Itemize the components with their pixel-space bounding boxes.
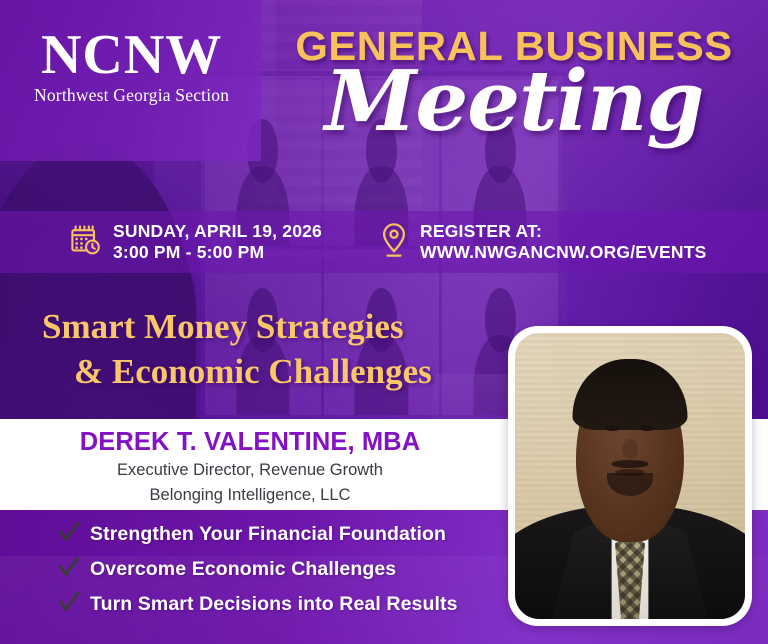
headshot-brow-left xyxy=(601,415,622,420)
speaker-company: Belonging Intelligence, LLC xyxy=(0,485,500,507)
list-item-label: Turn Smart Decisions into Real Results xyxy=(90,593,458,616)
topic-line-2: & Economic Challenges xyxy=(42,350,472,395)
location-pin-icon xyxy=(379,222,409,263)
register-label: REGISTER AT: xyxy=(420,221,707,242)
speaker-info: DEREK T. VALENTINE, MBA Executive Direct… xyxy=(0,419,500,510)
check-icon xyxy=(58,555,80,584)
speaker-name: DEREK T. VALENTINE, MBA xyxy=(0,428,500,457)
headline: GENERAL BUSINESS Meeting xyxy=(272,26,756,139)
logo-section-name: Northwest Georgia Section xyxy=(34,86,229,105)
list-item: Overcome Economic Challenges xyxy=(58,555,458,584)
list-item: Strengthen Your Financial Foundation xyxy=(58,520,458,549)
topic-line-1: Smart Money Strategies xyxy=(42,305,472,350)
speaker-role: Executive Director, Revenue Growth xyxy=(0,460,500,482)
list-item-label: Overcome Economic Challenges xyxy=(90,558,396,581)
logo-acronym: NCNW xyxy=(34,28,229,83)
calendar-clock-icon xyxy=(68,223,102,262)
register-url[interactable]: WWW.NWGANCNW.ORG/EVENTS xyxy=(420,242,707,263)
registration-block[interactable]: REGISTER AT: WWW.NWGANCNW.ORG/EVENTS xyxy=(379,221,707,264)
headshot-eye-left xyxy=(605,425,620,432)
check-icon xyxy=(58,520,80,549)
date-time-block: SUNDAY, APRIL 19, 2026 3:00 PM - 5:00 PM xyxy=(68,221,322,264)
event-date: SUNDAY, APRIL 19, 2026 xyxy=(113,221,322,242)
check-icon xyxy=(58,590,80,619)
benefits-list: Strengthen Your Financial Foundation Ove… xyxy=(58,520,458,625)
headline-primary: GENERAL BUSINESS xyxy=(267,26,761,67)
speaker-headshot xyxy=(515,333,745,619)
registration-text: REGISTER AT: WWW.NWGANCNW.ORG/EVENTS xyxy=(420,221,707,264)
headline-script: Meeting xyxy=(272,63,756,139)
event-info-bar: SUNDAY, APRIL 19, 2026 3:00 PM - 5:00 PM… xyxy=(0,211,768,273)
speaker-photo-frame xyxy=(508,326,752,626)
list-item-label: Strengthen Your Financial Foundation xyxy=(90,523,446,546)
ncnw-logo: NCNW Northwest Georgia Section xyxy=(34,28,229,105)
event-flyer: NCNW Northwest Georgia Section GENERAL B… xyxy=(0,0,768,644)
date-time-text: SUNDAY, APRIL 19, 2026 3:00 PM - 5:00 PM xyxy=(113,221,322,264)
list-item: Turn Smart Decisions into Real Results xyxy=(58,590,458,619)
event-time: 3:00 PM - 5:00 PM xyxy=(113,242,322,263)
headshot-hair xyxy=(573,359,688,431)
topic-headline: Smart Money Strategies & Economic Challe… xyxy=(42,305,472,395)
headshot-brow-right xyxy=(638,415,659,420)
headshot-nose xyxy=(622,439,638,459)
